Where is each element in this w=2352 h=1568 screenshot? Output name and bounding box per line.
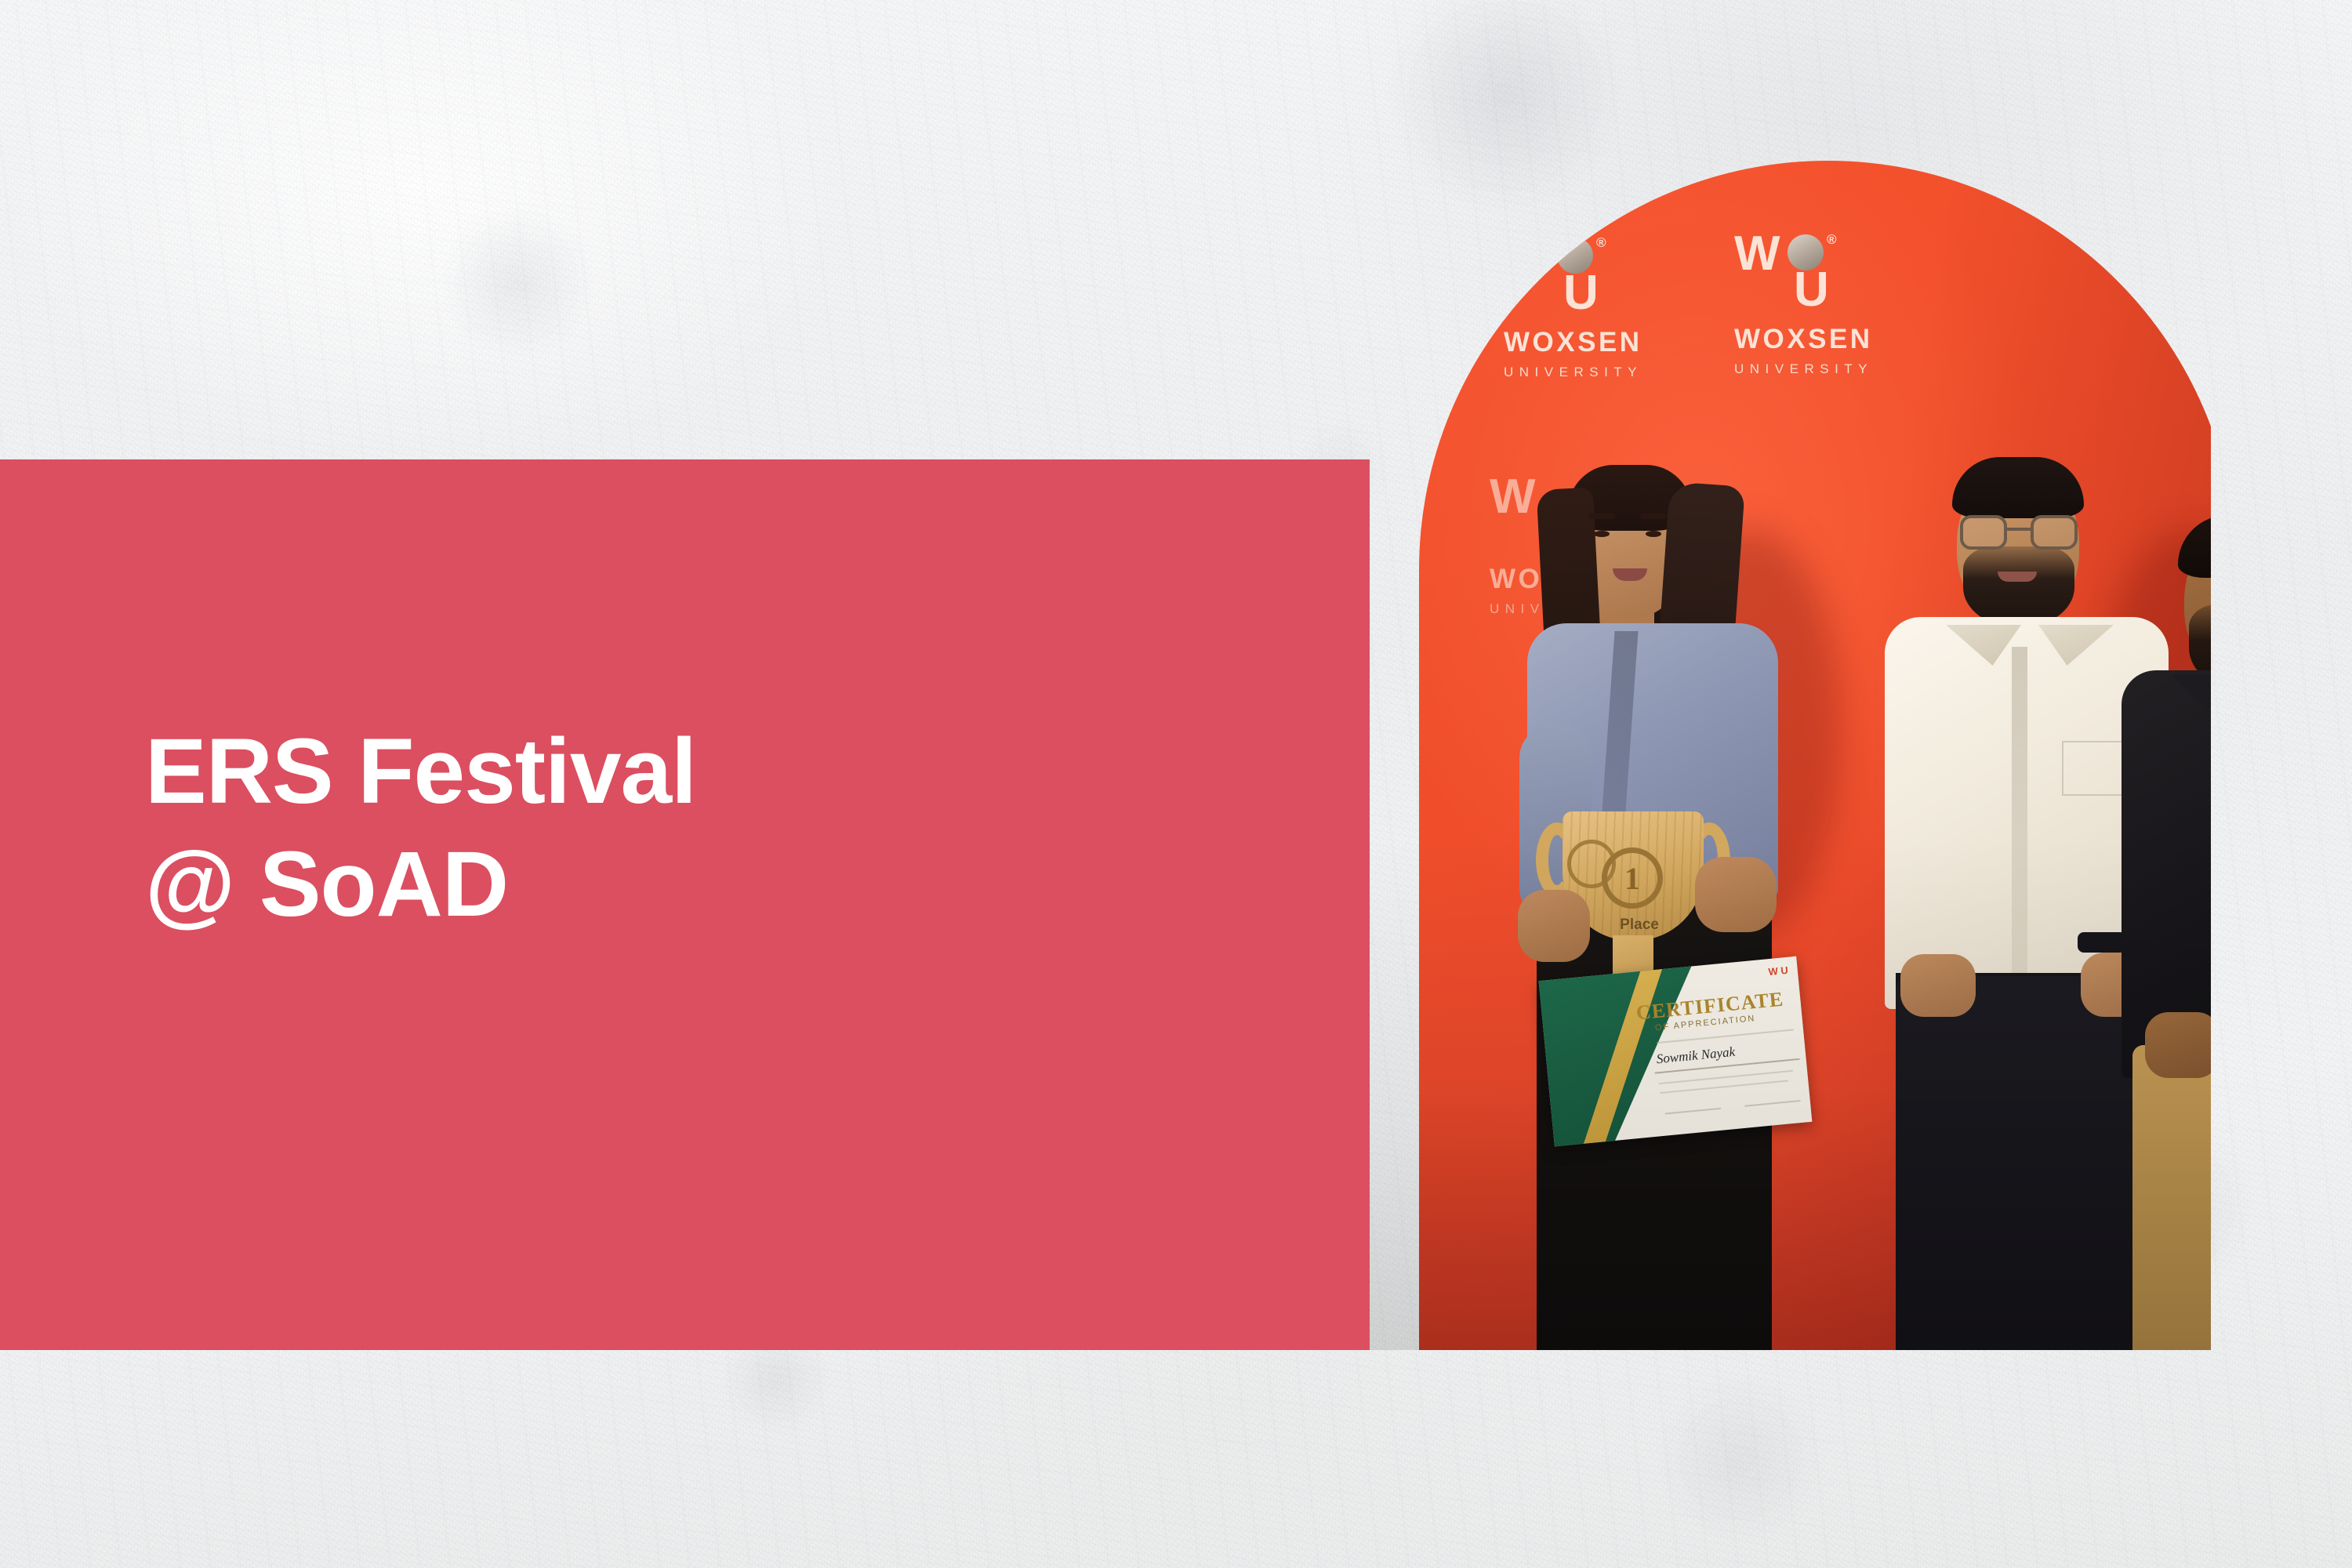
hair [1952, 457, 2084, 518]
hand [1900, 954, 1976, 1017]
monogram-dot-icon [1557, 238, 1593, 274]
monogram-dot-icon [1504, 238, 1540, 274]
page-title-line-1: ERS Festival [145, 716, 1243, 829]
arch-backdrop: W ® U WOXSEN UNIVERSITY W ® U [1419, 161, 2211, 1350]
eye [1646, 531, 1661, 537]
certificate: W U CERTIFICATE OF APPRECIATION Sowmik N… [1539, 956, 1813, 1147]
woxsen-wordmark: WOXSEN [1734, 325, 1873, 353]
eyeglasses-icon [1960, 515, 2078, 550]
woxsen-wordmark: WOXSEN [1504, 328, 1642, 356]
shirt-pocket [2062, 741, 2129, 796]
monogram-w-letter: W [1490, 473, 1537, 521]
registered-mark: ® [1596, 236, 1606, 249]
lens-left [1960, 515, 2007, 550]
certificate-logo: W U [1768, 965, 1788, 978]
hand [2145, 1012, 2211, 1078]
certificate-recipient-name: Sowmik Nayak [1656, 1038, 1798, 1067]
mouth [1998, 572, 2037, 582]
title-panel: ERS Festival @ SoAD [0, 459, 1370, 1350]
hand [1695, 857, 1777, 932]
bridge [2007, 528, 2031, 531]
title-block: ERS Festival @ SoAD [145, 716, 1243, 942]
trophy-place-label: Place [1600, 916, 1679, 934]
hand [1518, 890, 1590, 962]
lens-right [2031, 515, 2078, 550]
wristwatch [2078, 932, 2126, 953]
woxsen-subtitle: UNIVERSITY [1504, 365, 1642, 379]
monogram-u-letter: U [1794, 266, 1829, 314]
page-title-line-2: @ SoAD [145, 829, 1243, 942]
slide-canvas: ERS Festival @ SoAD W ® U WOXSEN UNIVERS… [0, 0, 2352, 1568]
trousers [2132, 1045, 2211, 1350]
monogram-u-letter: U [1563, 269, 1599, 318]
trophy-medal-icon: 1 [1602, 848, 1663, 909]
event-photo: W ® U WOXSEN UNIVERSITY W ® U [1370, 0, 2211, 1350]
monogram-dot-icon [1788, 234, 1824, 270]
eyebrow [1588, 514, 1615, 519]
registered-mark: ® [1827, 233, 1837, 246]
woxsen-subtitle: UNIVERSITY [1734, 362, 1873, 376]
shirt-placket [2012, 647, 2027, 1000]
certificate-signature-rule [1744, 1100, 1801, 1107]
monogram-w-letter: W [1734, 230, 1782, 278]
eyebrow [1640, 514, 1667, 519]
eye [1594, 531, 1610, 537]
certificate-signature-rule [1664, 1108, 1721, 1115]
beard [1963, 546, 2074, 628]
